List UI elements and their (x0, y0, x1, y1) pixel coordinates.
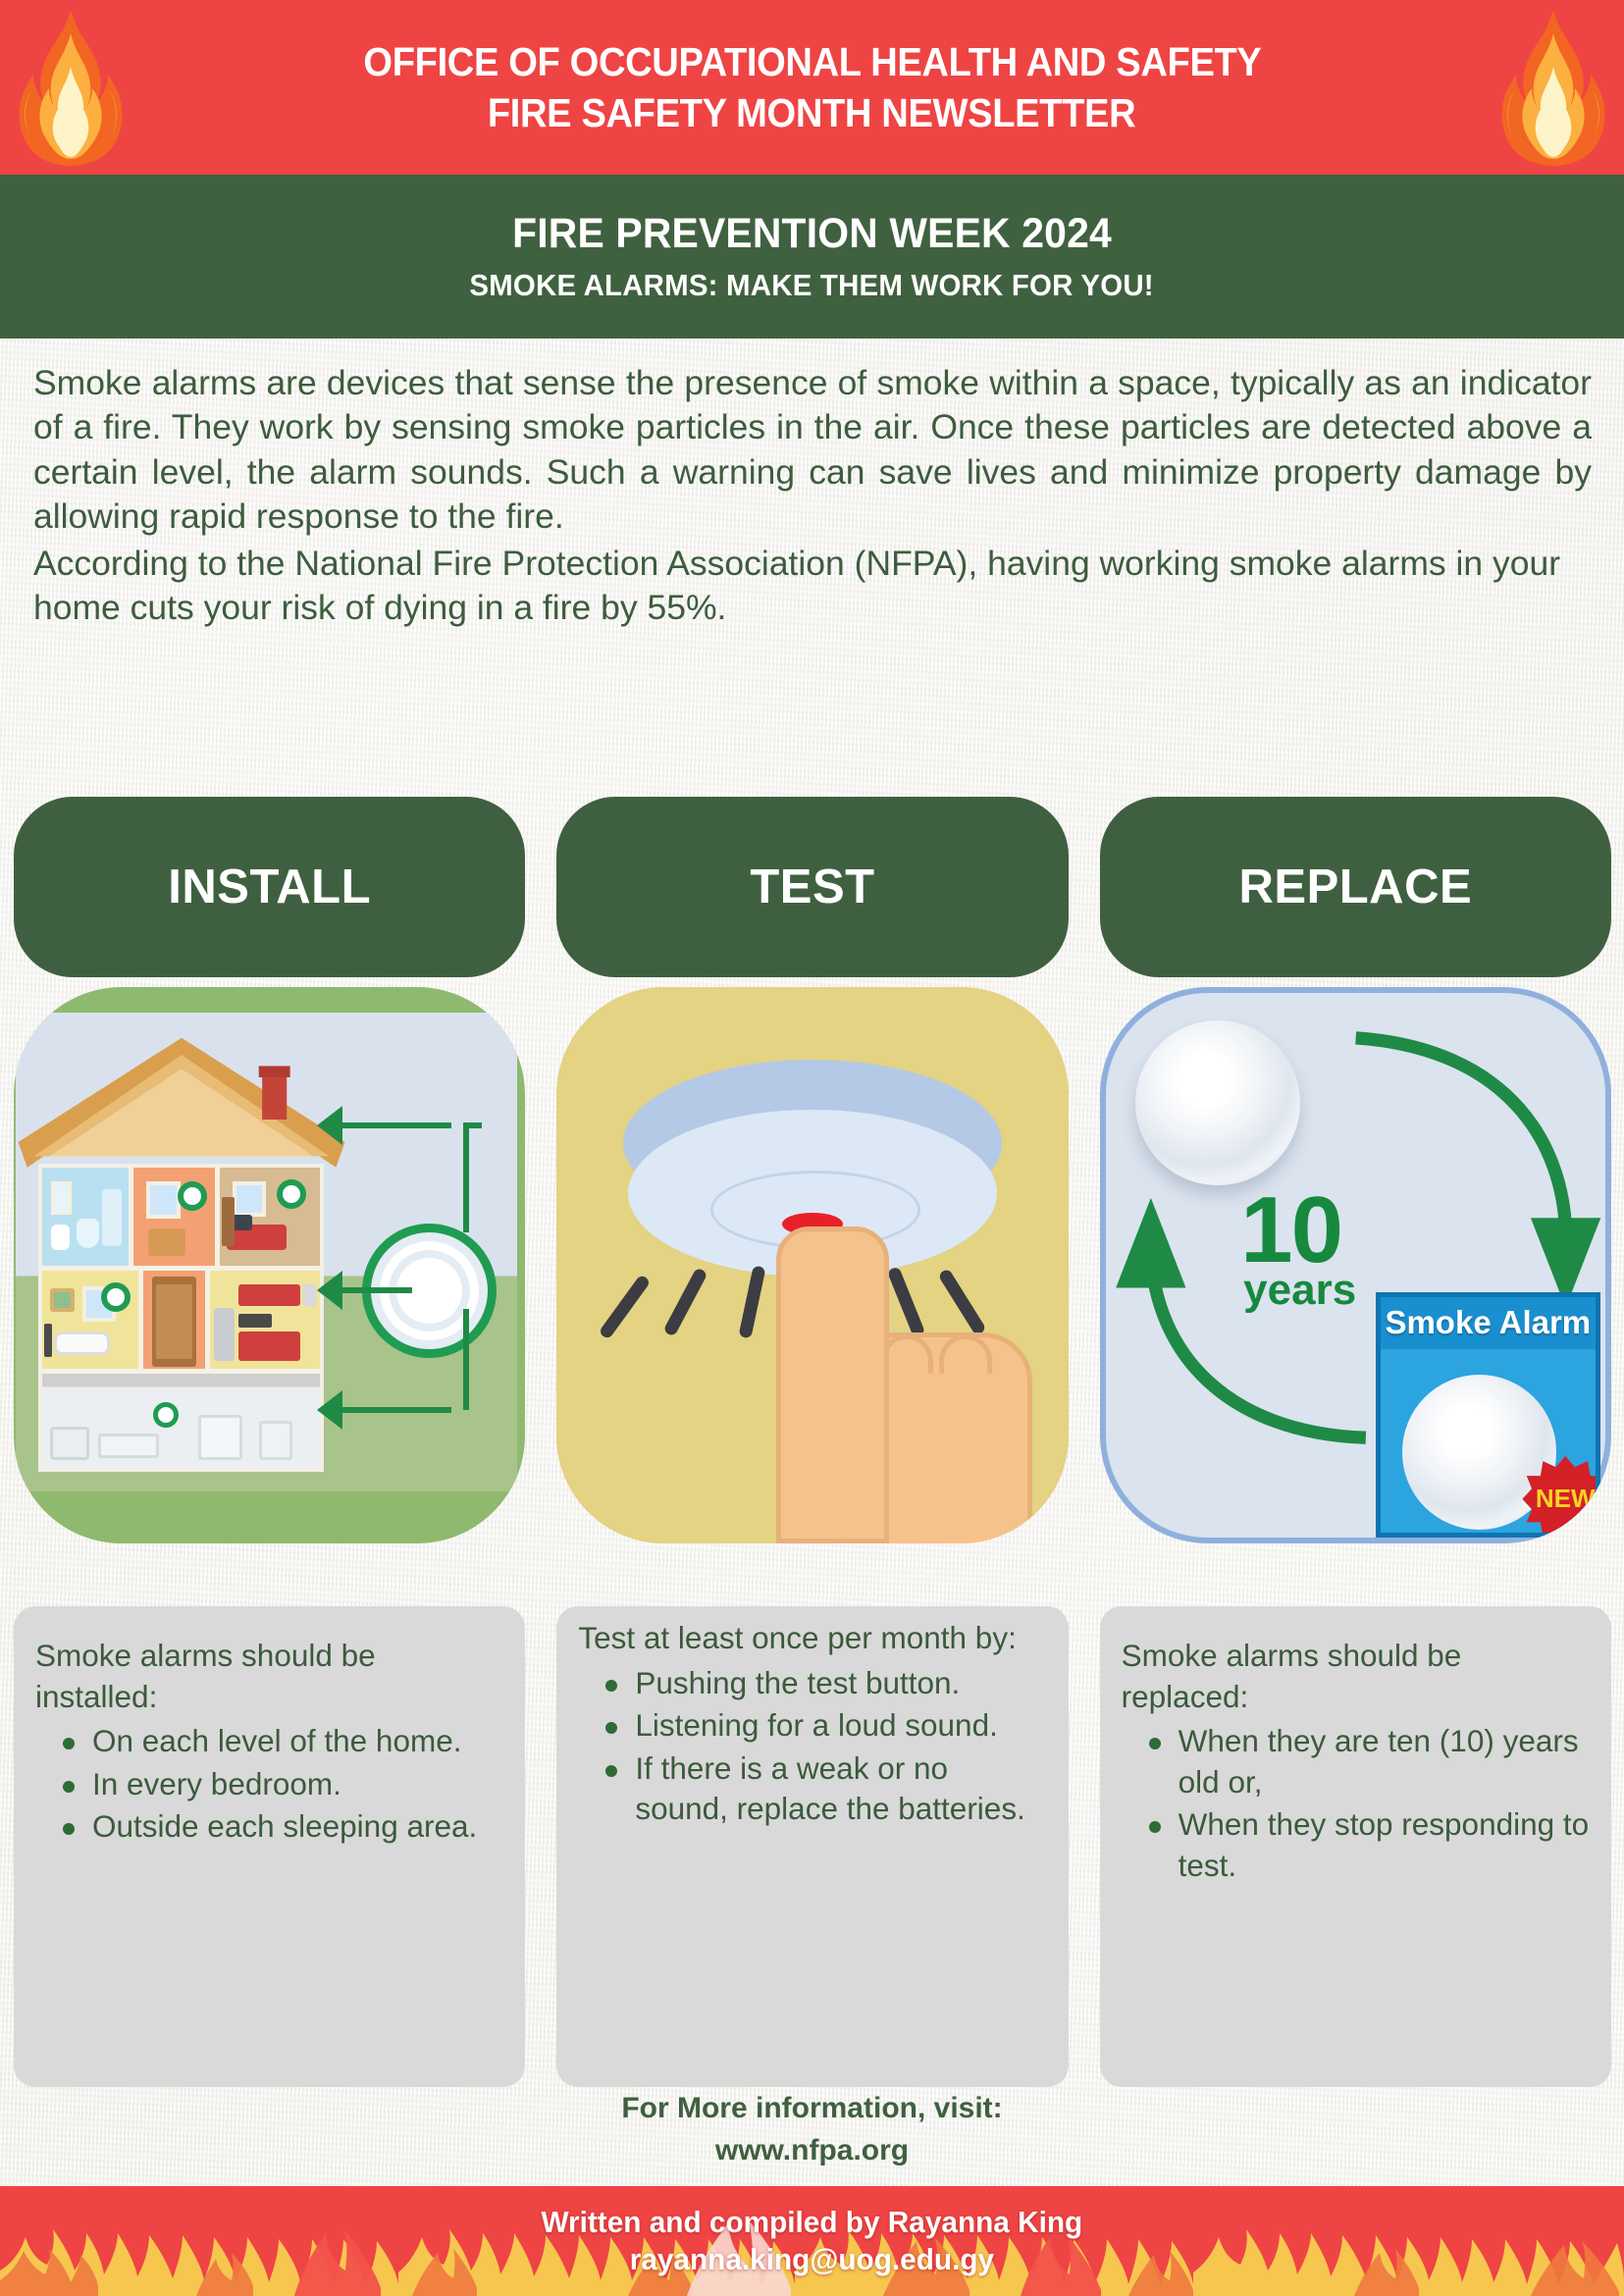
list-item: Outside each sleeping area. (92, 1806, 503, 1848)
smoke-alarm-box-caption: Smoke Alarm (1381, 1297, 1596, 1341)
pill-test[interactable]: TEST (556, 797, 1068, 977)
new-badge-label: NEW (1536, 1484, 1596, 1514)
more-information-note: For More information, visit: www.nfpa.or… (0, 2088, 1624, 2171)
alarm-location-hallway (178, 1181, 207, 1211)
install-details-box: Smoke alarms should be installed: On eac… (14, 1606, 525, 2087)
house-floors (38, 1164, 324, 1472)
replace-bullet-list: When they are ten (10) years old or, Whe… (1122, 1721, 1590, 1886)
sound-wave-dash (886, 1266, 925, 1337)
house-structure (26, 1032, 337, 1473)
ten-years-label: 10 years (1240, 1189, 1356, 1310)
install-bullet-list: On each level of the home. In every bedr… (35, 1721, 503, 1848)
replace-details-box: Smoke alarms should be replaced: When th… (1100, 1606, 1611, 2087)
header-title-block: OFFICE OF OCCUPATIONAL HEALTH AND SAFETY… (0, 0, 1624, 175)
install-lead-text: Smoke alarms should be installed: (35, 1636, 503, 1717)
arrow-head-upper (317, 1106, 342, 1145)
house-cutaway-with-smoke-alarm-locations-image (14, 987, 525, 1543)
replace-lead-text: Smoke alarms should be replaced: (1122, 1636, 1590, 1717)
newsletter-title: FIRE SAFETY MONTH NEWSLETTER (488, 89, 1135, 136)
sound-wave-dash (937, 1268, 986, 1336)
replace-illustration: 10 years Smoke Alarm NEW (1106, 993, 1605, 1538)
hallway (133, 1168, 221, 1266)
intro-paragraph-1: Smoke alarms are devices that sense the … (33, 361, 1592, 540)
years-word: years (1243, 1272, 1356, 1310)
section-pill-row: INSTALL TEST REPLACE (14, 797, 1611, 977)
roof-attic (14, 1032, 349, 1174)
main-floor (42, 1271, 320, 1374)
new-smoke-alarm-box: Smoke Alarm NEW (1376, 1292, 1600, 1538)
intro-text-block: Smoke alarms are devices that sense the … (33, 361, 1592, 633)
newsletter-page: OFFICE OF OCCUPATIONAL HEALTH AND SAFETY… (0, 0, 1624, 2296)
sound-wave-dash (739, 1265, 766, 1338)
section-detail-row: Smoke alarms should be installed: On eac… (14, 1606, 1611, 2087)
more-info-label: For More information, visit: (0, 2088, 1624, 2130)
header-banner: OFFICE OF OCCUPATIONAL HEALTH AND SAFETY… (0, 0, 1624, 175)
footer-banner: Written and compiled by Rayanna King ray… (0, 2186, 1624, 2296)
arrow-segment (463, 1309, 469, 1409)
arrow-segment (463, 1122, 469, 1232)
alarm-location-bedroom (277, 1179, 306, 1209)
sound-wave-dash (663, 1267, 708, 1336)
author-email[interactable]: rayanna.king@uog.edu.gy (630, 2242, 994, 2277)
index-finger (776, 1226, 889, 1543)
entry-door (143, 1271, 209, 1369)
arrow-segment (332, 1287, 412, 1293)
sound-wave-dash (598, 1274, 651, 1340)
living-room (42, 1271, 143, 1369)
alarm-location-living-room (101, 1282, 131, 1312)
list-item: When they are ten (10) years old or, (1179, 1721, 1590, 1802)
years-number: 10 (1240, 1189, 1356, 1272)
list-item: On each level of the home. (92, 1721, 503, 1762)
upper-floor (42, 1168, 320, 1271)
arrow-head-basement (317, 1390, 342, 1430)
house-cutaway-illustration (16, 1013, 517, 1491)
list-item: In every bedroom. (92, 1764, 503, 1805)
subheader-banner: FIRE PREVENTION WEEK 2024 SMOKE ALARMS: … (0, 175, 1624, 339)
arrow-segment (332, 1122, 452, 1128)
nfpa-website-link[interactable]: www.nfpa.org (0, 2130, 1624, 2172)
finger-pressing-smoke-alarm-test-button-image (556, 987, 1068, 1543)
office-title: OFFICE OF OCCUPATIONAL HEALTH AND SAFETY (363, 38, 1261, 85)
ten-year-smoke-alarm-replacement-cycle-image: 10 years Smoke Alarm NEW (1100, 987, 1611, 1543)
test-bullet-list: Pushing the test button. Listening for a… (578, 1663, 1046, 1830)
arrow-segment (332, 1407, 452, 1413)
pill-install[interactable]: INSTALL (14, 797, 525, 977)
bathroom (42, 1168, 133, 1266)
list-item: When they stop responding to test. (1179, 1804, 1590, 1886)
arrow-head-main (317, 1271, 342, 1310)
author-credit: Written and compiled by Rayanna King (542, 2205, 1083, 2240)
intro-paragraph-2: According to the National Fire Protectio… (33, 542, 1592, 631)
basement (42, 1374, 320, 1468)
test-illustration (556, 987, 1068, 1543)
list-item: Listening for a loud sound. (635, 1705, 1046, 1747)
pill-replace[interactable]: REPLACE (1100, 797, 1611, 977)
fire-prevention-week-title: FIRE PREVENTION WEEK 2024 (512, 210, 1112, 258)
test-lead-text: Test at least once per month by: (578, 1618, 1046, 1659)
footer-credit-block: Written and compiled by Rayanna King ray… (0, 2186, 1624, 2296)
list-item: If there is a weak or no sound, replace … (635, 1748, 1046, 1830)
list-item: Pushing the test button. (635, 1663, 1046, 1704)
basement-room (42, 1374, 320, 1468)
alarm-location-basement (153, 1402, 179, 1428)
bedroom (220, 1168, 320, 1266)
kitchen (210, 1271, 320, 1369)
test-details-box: Test at least once per month by: Pushing… (556, 1606, 1068, 2087)
section-image-row: 10 years Smoke Alarm NEW (14, 987, 1611, 1543)
campaign-slogan: SMOKE ALARMS: MAKE THEM WORK FOR YOU! (470, 268, 1154, 303)
